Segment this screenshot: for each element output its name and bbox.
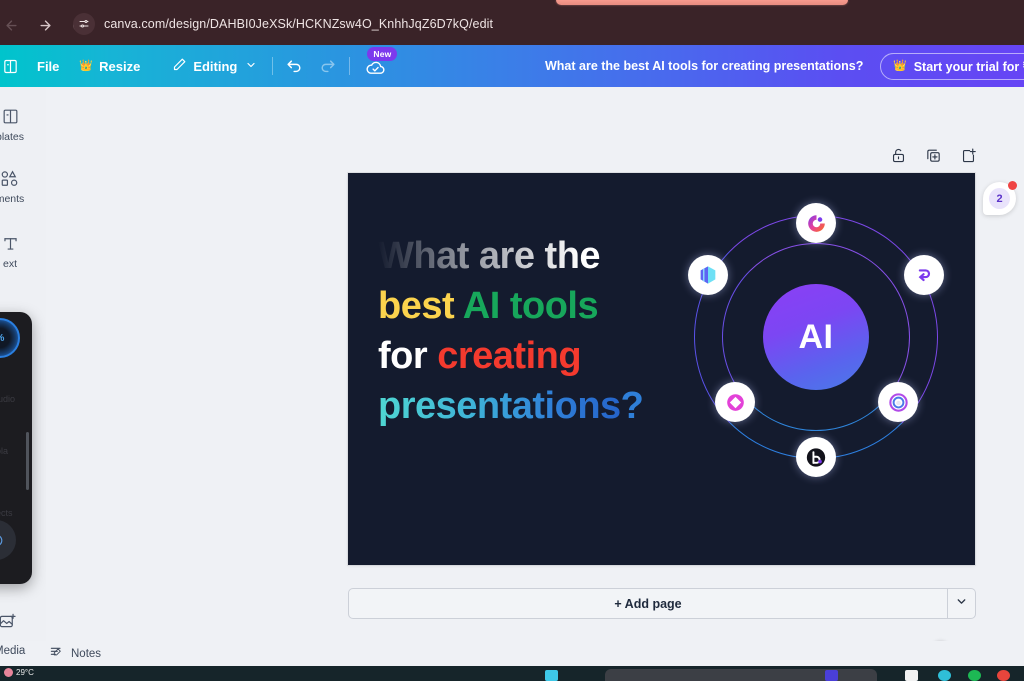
crown-icon: 👑 <box>893 61 907 72</box>
comment-count: 2 <box>989 188 1010 209</box>
ai-tool-node-diamond[interactable] <box>715 382 755 422</box>
title-word-creating: creating <box>437 335 581 377</box>
resize-button[interactable]: 👑 Resize <box>69 45 150 87</box>
canva-toolbar: File 👑 Resize Editing New <box>0 45 1024 87</box>
crown-icon: 👑 <box>79 61 93 72</box>
perplexity-icon <box>913 264 935 286</box>
canva-editor-screen: canva.com/design/DAHBI0JeXSk/HCKNZsw4O_K… <box>0 0 1024 681</box>
letter-b-icon <box>805 446 827 468</box>
ai-orbit-graphic[interactable]: AI <box>666 187 966 547</box>
sidebar-item-templates[interactable]: plates <box>0 105 46 143</box>
taskbar-app-icon-5[interactable] <box>968 670 981 681</box>
site-settings-icon[interactable] <box>73 13 95 35</box>
taskbar-app-icon-2[interactable] <box>825 670 838 681</box>
comment-bubble[interactable]: 2 <box>983 182 1016 215</box>
widget-scrollbar[interactable] <box>26 432 29 490</box>
media-tab[interactable]: Media <box>0 645 25 657</box>
active-browser-tab[interactable] <box>556 0 848 5</box>
file-menu-button[interactable]: File <box>27 45 69 87</box>
sidebar-item-elements[interactable]: ments <box>0 167 46 205</box>
ai-tool-node-cube[interactable] <box>688 255 728 295</box>
slide-title-text[interactable]: What are the best AI tools for creating … <box>378 231 708 432</box>
title-line-4: presentations? <box>378 381 708 431</box>
ai-tool-node-b[interactable] <box>796 437 836 477</box>
sidebar-item-text[interactable]: ext <box>0 232 46 270</box>
title-word-for: for <box>378 335 437 377</box>
title-word-presentations: presentations <box>378 385 621 427</box>
resize-label: Resize <box>99 59 140 74</box>
ai-tool-node-perplexity[interactable] <box>904 255 944 295</box>
title-question-mark: ? <box>621 385 644 427</box>
notes-icon <box>49 644 65 663</box>
cloud-save-button[interactable]: New <box>355 45 396 87</box>
editing-label: Editing <box>193 59 237 74</box>
add-page-row: + Add page <box>348 588 976 619</box>
notification-dot <box>1008 181 1017 190</box>
title-word-best: best <box>378 285 463 327</box>
start-trial-button[interactable]: 👑 Start your trial for ₹ <box>880 53 1024 80</box>
address-bar-url: canva.com/design/DAHBI0JeXSk/HCKNZsw4O_K… <box>104 17 493 31</box>
taskbar-app-icon-4[interactable] <box>938 670 951 681</box>
cube-icon <box>697 264 719 286</box>
temperature-value: 29°C <box>16 668 34 677</box>
templates-icon <box>1 105 20 127</box>
taskbar-app-icon-3[interactable] <box>905 670 918 681</box>
ai-core-circle: AI <box>763 284 869 390</box>
sidebar-item-label: ext <box>3 258 17 270</box>
add-page-button[interactable]: + Add page <box>348 588 948 619</box>
volume-dial[interactable] <box>0 520 16 560</box>
new-badge: New <box>367 47 397 61</box>
ghost-label-1: udio <box>0 394 15 404</box>
ai-tool-node-copilot[interactable] <box>796 203 836 243</box>
document-title[interactable]: What are the best AI tools for creating … <box>545 45 863 87</box>
canva-home-icon[interactable] <box>0 45 27 87</box>
cpu-gauge: % <box>0 318 20 358</box>
ghost-label-2: ola <box>0 446 8 456</box>
browser-chrome: canva.com/design/DAHBI0JeXSk/HCKNZsw4O_K… <box>0 0 1024 45</box>
add-page-icon[interactable] <box>959 146 977 164</box>
temperature-indicator: 29°C <box>4 668 34 677</box>
duplicate-page-icon[interactable] <box>924 146 942 164</box>
page-tools-row <box>889 146 977 164</box>
trial-label: Start your trial for ₹ <box>914 59 1024 74</box>
chevron-down-icon <box>245 59 257 74</box>
title-word-ai-tools: AI tools <box>463 285 598 327</box>
ai-core-label: AI <box>799 318 834 357</box>
title-line-2: best AI tools <box>378 281 708 331</box>
text-icon <box>1 232 20 254</box>
system-monitor-widget[interactable]: % 1.1 B/s 1.1 B/s udio ola ects 0 2 + <box>0 312 32 584</box>
title-line-1: What are the <box>378 231 708 281</box>
elements-icon <box>0 167 21 189</box>
slide-canvas[interactable]: What are the best AI tools for creating … <box>348 173 975 565</box>
redo-icon[interactable] <box>311 45 344 87</box>
ghost-label-3: ects <box>0 508 13 518</box>
media-label: Media <box>0 645 25 657</box>
lock-icon[interactable] <box>889 146 907 164</box>
editing-mode-button[interactable]: Editing <box>162 45 267 87</box>
sidebar-item-label: ments <box>0 193 24 205</box>
cpu-gauge-value: % <box>0 333 4 344</box>
weather-icon <box>4 668 13 677</box>
os-taskbar: 29°C <box>0 666 1024 681</box>
chevron-down-icon <box>955 595 968 613</box>
address-bar[interactable]: canva.com/design/DAHBI0JeXSk/HCKNZsw4O_K… <box>73 11 493 37</box>
ai-tool-node-eye[interactable] <box>878 382 918 422</box>
diamond-icon <box>724 391 746 413</box>
file-menu-label: File <box>37 59 59 74</box>
taskbar-app-icon-6[interactable] <box>997 670 1010 681</box>
notes-label: Notes <box>71 648 101 660</box>
back-arrow-icon[interactable] <box>0 11 28 41</box>
add-page-dropdown-button[interactable] <box>948 588 976 619</box>
title-line-3: for creating <box>378 331 708 381</box>
forward-arrow-icon[interactable] <box>28 11 62 41</box>
bottom-bar <box>0 641 1024 669</box>
toolbar-divider-2 <box>349 57 350 75</box>
sidebar-item-label: plates <box>0 131 24 143</box>
eye-icon <box>887 391 909 413</box>
toolbar-divider <box>272 57 273 75</box>
pencil-icon <box>172 57 187 75</box>
copilot-icon <box>805 212 827 234</box>
upload-media-icon[interactable] <box>0 612 17 636</box>
undo-icon[interactable] <box>278 45 311 87</box>
notes-tab[interactable]: Notes <box>49 644 101 663</box>
taskbar-app-icon-1[interactable] <box>545 670 558 681</box>
